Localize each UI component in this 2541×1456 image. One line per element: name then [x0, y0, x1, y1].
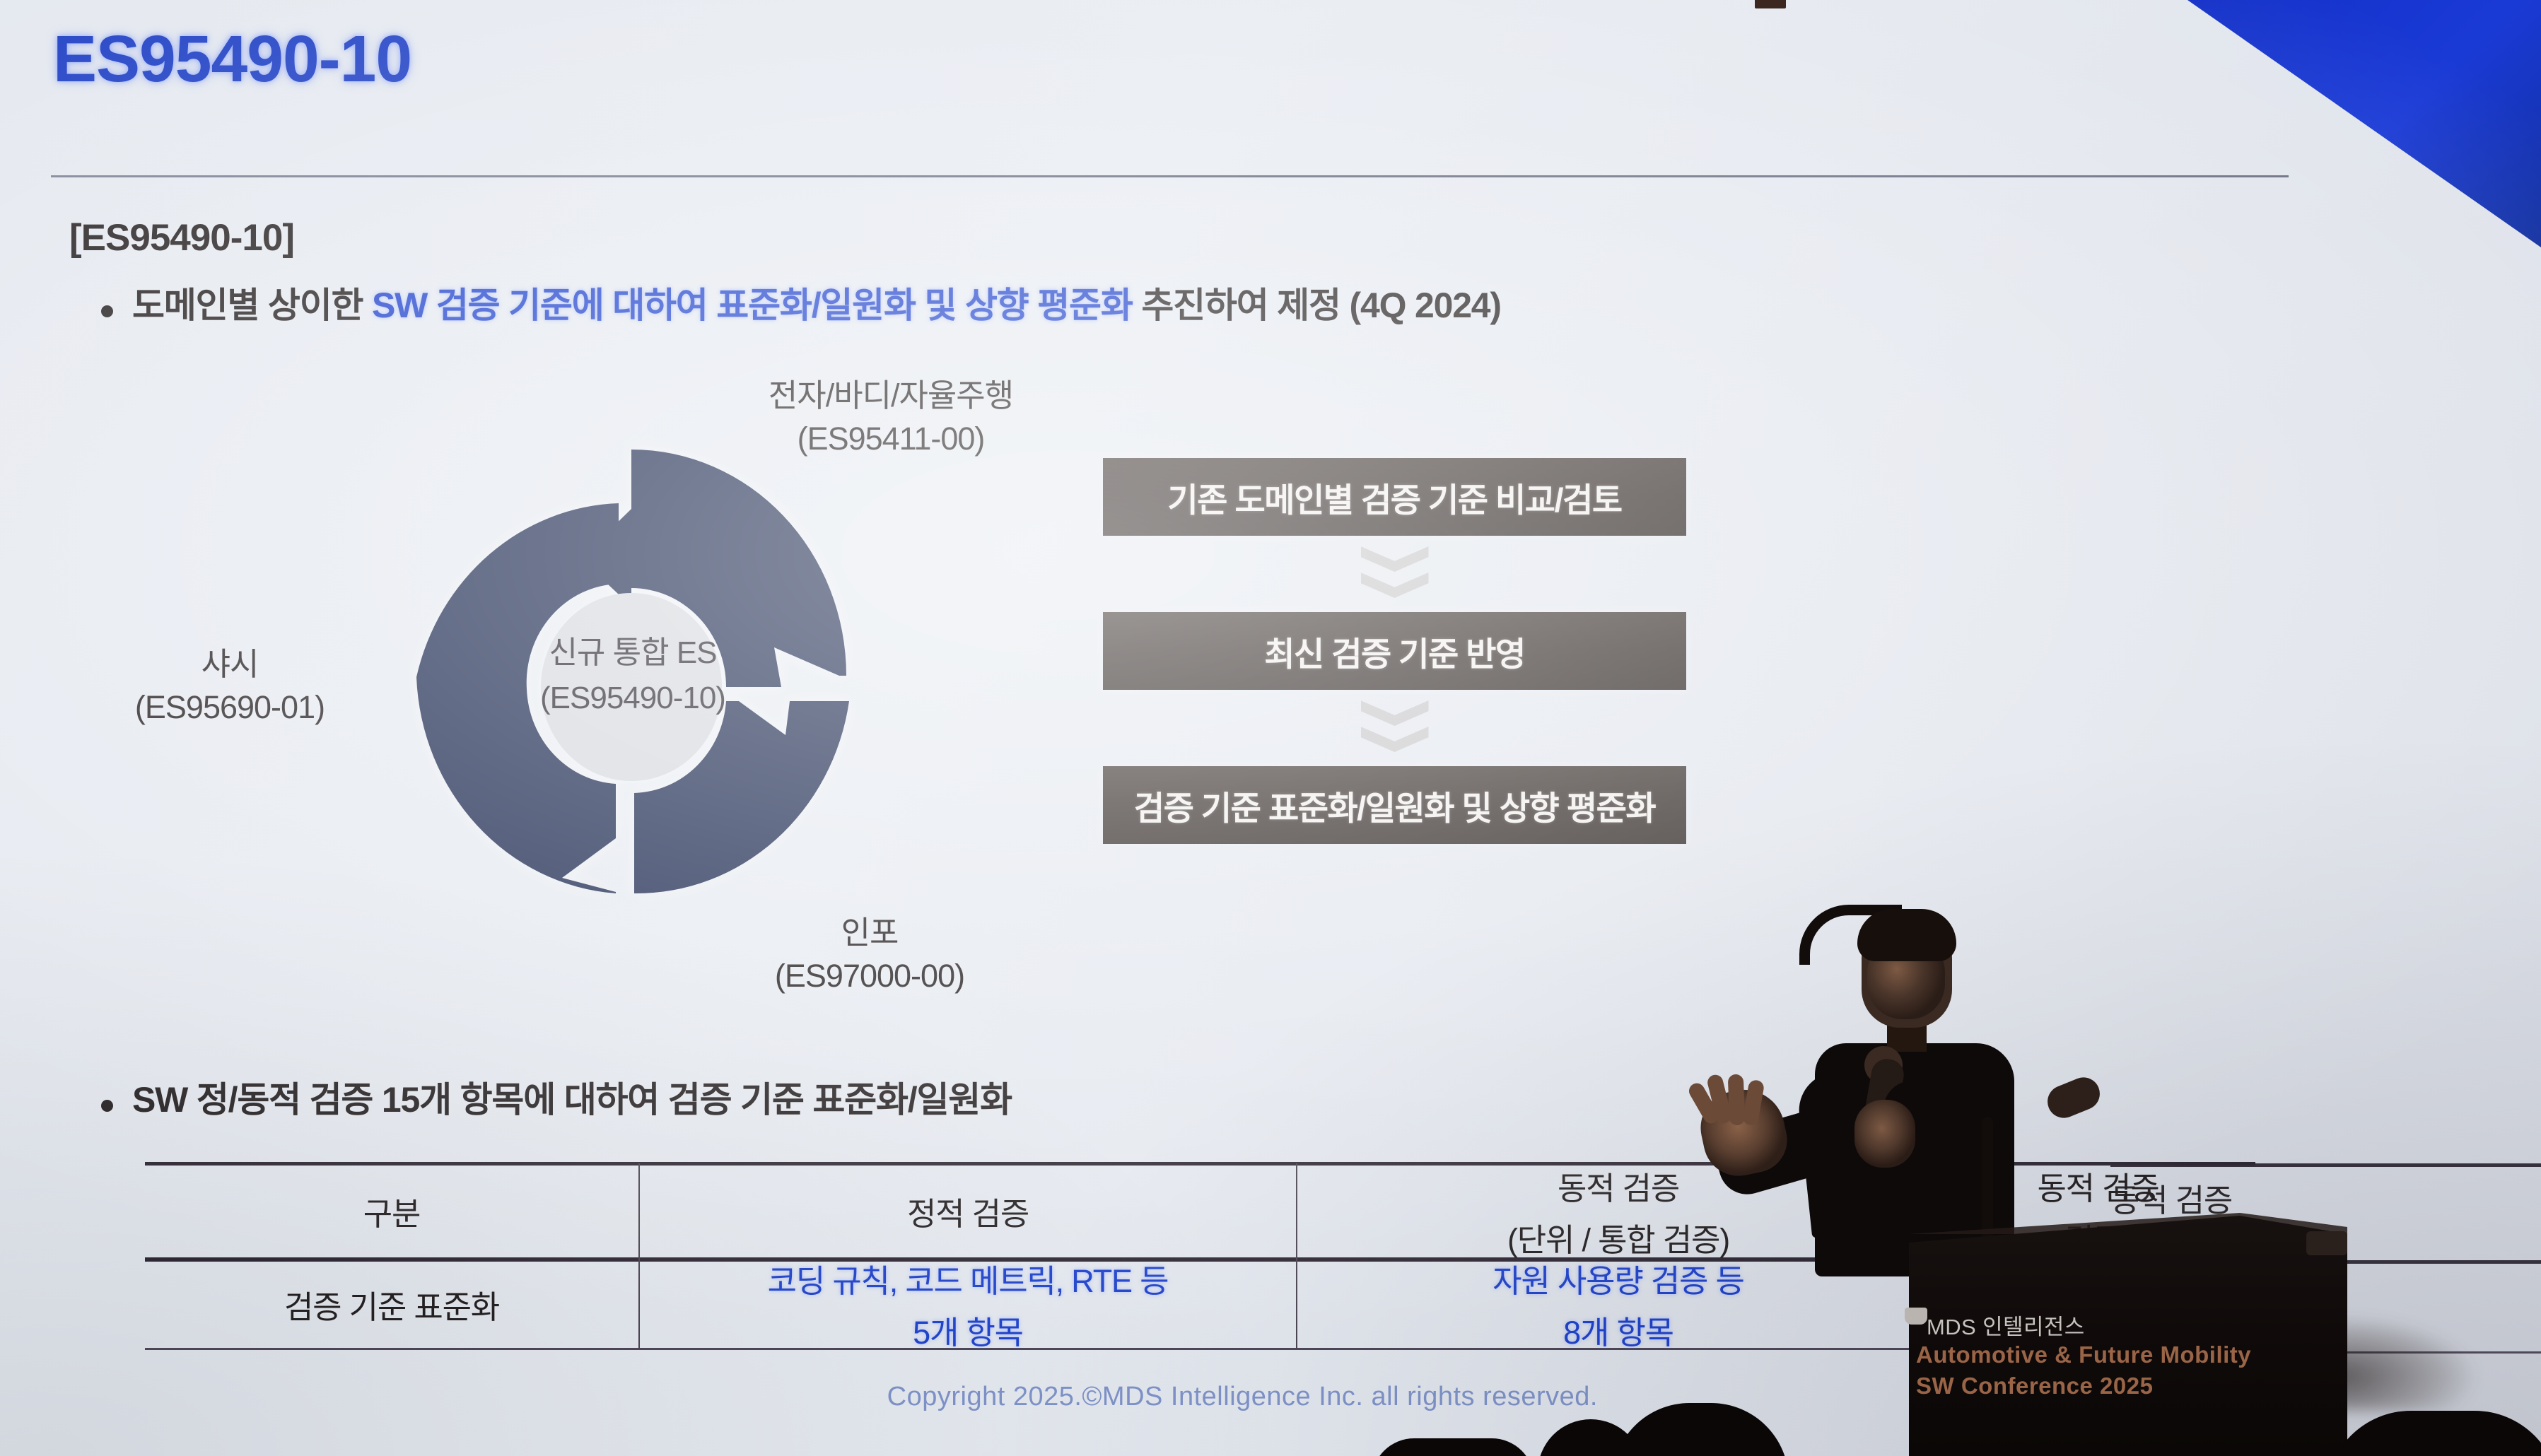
process-flow: 기존 도메인별 검증 기준 비교/검토 최신 검증 기준 반영 검증 기준 표준… [1103, 458, 1686, 844]
podium-microphone-head-icon [2043, 1072, 2105, 1122]
presentation-photo: ES95490-10 [ES95490-10] 도메인별 상이한 SW 검증 기… [0, 0, 2541, 1456]
bullet-item-1: 도메인별 상이한 SW 검증 기준에 대하여 표준화/일원화 및 상향 평준화 … [101, 286, 1501, 327]
process-step-3: 검증 기준 표준화/일원화 및 상향 평준화 [1103, 766, 1686, 844]
cycle-label-electronics-name: 전자/바디/자율주행 [693, 375, 1089, 418]
cycle-label-infotainment-name: 인포 [700, 912, 1039, 955]
podium-org-name: MDS 인텔리전스 [1927, 1309, 2259, 1341]
cycle-label-chassis: 샤시 (ES95690-01) [60, 643, 399, 729]
cycle-label-electronics-code: (ES95411-00) [693, 418, 1089, 461]
section-heading: [ES95490-10] [69, 216, 294, 259]
speaker-hair [1857, 909, 1956, 961]
cycle-label-chassis-name: 샤시 [60, 643, 399, 686]
table-header-static: 정적 검증 [640, 1163, 1297, 1259]
podium-event-line2: SW Conference 2025 [1916, 1373, 2270, 1399]
double-chevron-down-icon [1361, 700, 1429, 726]
ceiling-fixture [1755, 0, 1786, 8]
bullet-dot-icon [101, 305, 113, 317]
podium-edge-lip [2306, 1231, 2347, 1255]
process-arrow-1 [1103, 536, 1686, 612]
cycle-diagram: 신규 통합 ES (ES95490-10) [407, 438, 859, 905]
bullet-2-text: SW 정/동적 검증 15개 항목에 대하여 검증 기준 표준화/일원화 [132, 1080, 1012, 1121]
double-chevron-down-icon [1361, 727, 1429, 752]
speaker-right-hand [1854, 1100, 1915, 1168]
double-chevron-down-icon [1361, 546, 1429, 572]
cycle-label-infotainment-code: (ES97000-00) [700, 955, 1039, 998]
bullet-1-text: 도메인별 상이한 SW 검증 기준에 대하여 표준화/일원화 및 상향 평준화 … [132, 286, 1501, 327]
cycle-hub-line2: (ES95490-10) [516, 681, 749, 716]
cycle-label-electronics: 전자/바디/자율주행 (ES95411-00) [693, 375, 1089, 461]
bullet-1-prefix: 도메인별 상이한 [132, 286, 372, 325]
cycle-label-infotainment: 인포 (ES97000-00) [700, 912, 1039, 998]
bullet-1-highlight: SW 검증 기준에 대하여 표준화/일원화 및 상향 평준화 [372, 286, 1133, 325]
slide-title: ES95490-10 [53, 21, 411, 97]
cycle-hub-label: 신규 통합 ES (ES95490-10) [516, 627, 749, 716]
corner-accent-triangle [2187, 0, 2541, 247]
bullet-item-2: SW 정/동적 검증 15개 항목에 대하여 검증 기준 표준화/일원화 [101, 1080, 1012, 1121]
table-cell-static: 코딩 규칙, 코드 메트릭, RTE 등 5개 항목 [640, 1259, 1297, 1349]
cycle-label-chassis-code: (ES95690-01) [60, 686, 399, 729]
process-arrow-2 [1103, 690, 1686, 766]
process-step-1: 기존 도메인별 검증 기준 비교/검토 [1103, 458, 1686, 536]
podium-logo-mark-icon [1905, 1308, 1927, 1325]
bullet-dot-icon [101, 1100, 113, 1112]
double-chevron-down-icon [1361, 573, 1429, 598]
podium-event-line1: Automotive & Future Mobility [1916, 1341, 2270, 1368]
title-divider [51, 175, 2289, 177]
cycle-hub-line1: 신규 통합 ES [516, 627, 749, 672]
process-step-2: 최신 검증 기준 반영 [1103, 612, 1686, 690]
bullet-1-suffix: 추진하여 제정 (4Q 2024) [1133, 286, 1501, 325]
slide-footer-copyright: Copyright 2025.©MDS Intelligence Inc. al… [0, 1382, 1598, 1412]
table-cell-category: 검증 기준 표준화 [145, 1259, 640, 1349]
table-header-category: 구분 [145, 1163, 640, 1259]
